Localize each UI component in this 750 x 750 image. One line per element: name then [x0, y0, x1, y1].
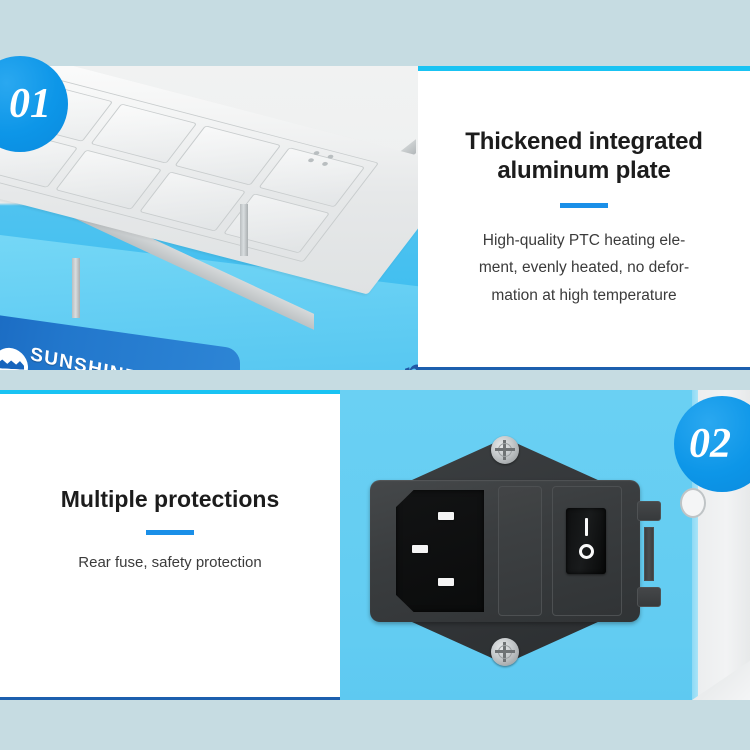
mounting-screw-top [491, 436, 519, 464]
feature-2-divider [146, 530, 194, 535]
feature-1-heading-line-1: Thickened integrated [465, 128, 702, 155]
switch-off-mark-icon [579, 544, 594, 559]
fuse-cap-top [637, 501, 661, 521]
plate-support-leg-left [72, 258, 80, 318]
feature-1-divider [560, 203, 608, 208]
plate-support-leg-right [240, 204, 248, 256]
feature-1-heading-line-2: aluminum plate [497, 157, 670, 184]
feature-panel-2: Multiple protections Rear fuse, safety p… [0, 390, 750, 700]
step-badge-02-label: 02 [689, 420, 750, 468]
fuse-holder[interactable] [498, 486, 542, 616]
feature-card-1: Thickened integrated aluminum plate High… [418, 66, 750, 370]
inlet-pin-earth [412, 545, 428, 553]
feature-2-heading: Multiple protections [18, 486, 322, 513]
step-badge-01-label: 01 [0, 80, 51, 128]
switch-on-mark-icon [585, 518, 588, 536]
iec-c14-power-inlet [396, 490, 484, 612]
device-side-port-icon [680, 488, 706, 518]
inlet-pin-top [438, 512, 454, 520]
feature-2-body: Rear fuse, safety protection [18, 554, 322, 571]
product-feature-page: SUNSHINE LS1 Screen Separator Profession… [0, 0, 750, 750]
fuse-cap-bottom [637, 587, 661, 607]
feature-1-body-line-1: High-quality PTC heating ele- [483, 232, 685, 249]
feature-panel-1: SUNSHINE LS1 Screen Separator Profession… [0, 66, 750, 370]
mounting-screw-bottom [491, 638, 519, 666]
feature-card-2: Multiple protections Rear fuse, safety p… [0, 390, 340, 700]
feature-1-body: High-quality PTC heating ele- ment, even… [440, 227, 728, 310]
inlet-pin-bottom [438, 578, 454, 586]
power-socket-assembly [370, 438, 640, 664]
feature-1-body-line-3: mation at high temperature [491, 287, 676, 304]
feature-1-body-line-2: ment, evenly heated, no defor- [479, 259, 689, 276]
feature-1-heading: Thickened integrated aluminum plate [440, 127, 728, 186]
fuse-tube [644, 527, 654, 581]
rocker-power-switch[interactable] [566, 508, 606, 574]
socket-housing [370, 480, 640, 622]
